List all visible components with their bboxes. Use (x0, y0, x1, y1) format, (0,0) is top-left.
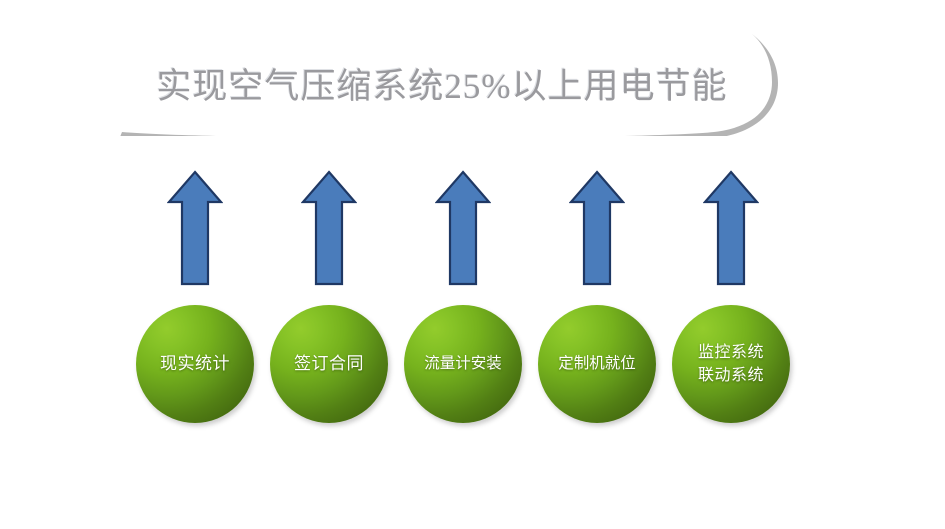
arrow-up-icon (435, 168, 491, 288)
flow-step-2[interactable]: 签订合同 (270, 168, 388, 428)
step-circle-5[interactable]: 监控系统 联动系统 (672, 305, 790, 423)
step-label-4: 定制机就位 (554, 353, 640, 375)
arrow-up-icon (301, 168, 357, 288)
step-label-3: 流量计安装 (420, 353, 506, 375)
step-label-1: 现实统计 (156, 353, 234, 375)
flow-step-4[interactable]: 定制机就位 (538, 168, 656, 428)
step-circle-1[interactable]: 现实统计 (136, 305, 254, 423)
step-circle-3[interactable]: 流量计安装 (404, 305, 522, 423)
process-flow-row: 现实统计 签订合同 流量计安装 定 (0, 0, 945, 529)
step-label-2: 签订合同 (290, 353, 368, 375)
step-circle-4[interactable]: 定制机就位 (538, 305, 656, 423)
arrow-up-icon (167, 168, 223, 288)
flow-step-3[interactable]: 流量计安装 (404, 168, 522, 428)
flow-step-5[interactable]: 监控系统 联动系统 (672, 168, 790, 428)
slide-canvas: 实现空气压缩系统25%以上用电节能 现实统计 签订合同 (0, 0, 945, 529)
flow-step-1[interactable]: 现实统计 (136, 168, 254, 428)
arrow-up-icon (569, 168, 625, 288)
step-label-5: 监控系统 联动系统 (694, 341, 768, 387)
arrow-up-icon (703, 168, 759, 288)
step-circle-2[interactable]: 签订合同 (270, 305, 388, 423)
